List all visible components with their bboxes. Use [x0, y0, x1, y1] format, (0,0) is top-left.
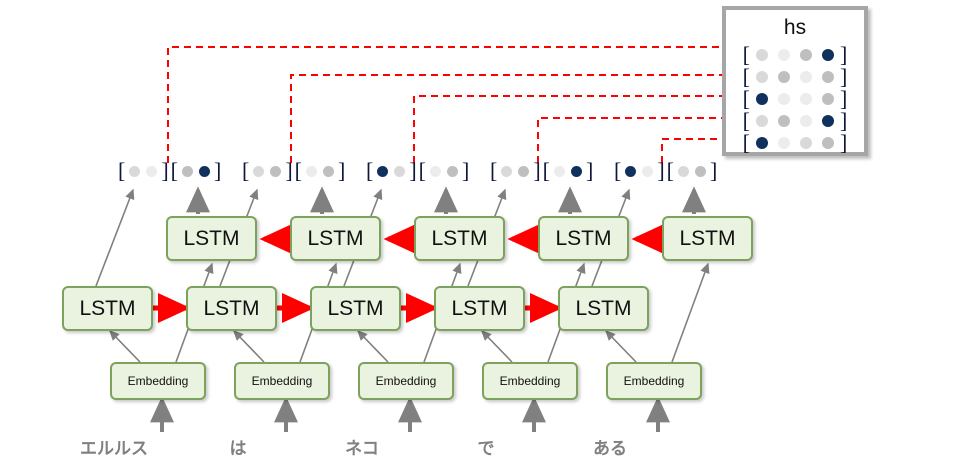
lstm-backward-5[interactable]: LSTM	[662, 216, 753, 261]
backward-output-vector-5: []	[666, 162, 719, 180]
output-vector-4: [][]	[489, 162, 594, 180]
bracket-close: ]	[840, 134, 847, 152]
vector-dot	[199, 166, 210, 177]
hs-panel-title: hs	[726, 16, 864, 40]
vector-dot	[778, 137, 790, 149]
vector-dot	[822, 93, 834, 105]
vector-dot	[756, 137, 768, 149]
hs-row: []	[726, 110, 864, 132]
bracket-open: [	[490, 162, 497, 180]
vector-dot	[822, 49, 834, 61]
output-vector-3: [][]	[365, 162, 470, 180]
backward-output-vector-1: []	[170, 162, 223, 180]
vector-dot	[800, 49, 812, 61]
vector-dot	[430, 166, 441, 177]
bilstm-diagram: hs [][][][][] [][]LSTMLSTMEmbeddingエルルス[…	[0, 0, 969, 474]
vector-dot	[822, 115, 834, 127]
vector-dot	[377, 166, 388, 177]
hs-row: []	[726, 44, 864, 66]
vector-dot	[306, 166, 317, 177]
forward-output-vector-5: []	[613, 162, 666, 180]
bracket-close: ]	[840, 112, 847, 130]
forward-output-vector-4: []	[489, 162, 542, 180]
bracket-open: [	[366, 162, 373, 180]
vector-dot	[800, 137, 812, 149]
bracket-close: ]	[338, 162, 345, 180]
bracket-open: [	[743, 134, 750, 152]
bracket-open: [	[295, 162, 302, 180]
lstm-backward-4[interactable]: LSTM	[538, 216, 629, 261]
bracket-close: ]	[840, 90, 847, 108]
backward-output-vector-2: []	[294, 162, 347, 180]
lstm-backward-2[interactable]: LSTM	[290, 216, 381, 261]
input-word-5: ある	[554, 434, 666, 459]
lstm-forward-3[interactable]: LSTM	[310, 286, 401, 331]
bracket-close: ]	[161, 162, 168, 180]
hs-vector-2: []	[742, 68, 849, 86]
vector-dot	[800, 71, 812, 83]
vector-dot	[518, 166, 529, 177]
vector-dot	[800, 115, 812, 127]
bracket-open: [	[743, 90, 750, 108]
vector-dot	[642, 166, 653, 177]
input-word-2: は	[182, 434, 294, 459]
backward-output-vector-4: []	[542, 162, 595, 180]
input-word-3: ネコ	[306, 434, 418, 459]
hs-vector-4: []	[742, 112, 849, 130]
forward-output-vector-2: []	[241, 162, 294, 180]
bracket-close: ]	[285, 162, 292, 180]
bracket-open: [	[419, 162, 426, 180]
vector-dot	[778, 93, 790, 105]
hs-row: []	[726, 88, 864, 110]
hs-matrix: [][][][][]	[726, 44, 864, 154]
output-vector-2: [][]	[241, 162, 346, 180]
vector-dot	[756, 71, 768, 83]
bracket-open: [	[743, 46, 750, 64]
forward-output-vector-1: []	[117, 162, 170, 180]
lstm-forward-4[interactable]: LSTM	[434, 286, 525, 331]
vector-dot	[253, 166, 264, 177]
bracket-close: ]	[657, 162, 664, 180]
hs-vector-5: []	[742, 134, 849, 152]
input-word-1: エルルス	[58, 434, 170, 459]
vector-dot	[778, 115, 790, 127]
bracket-close: ]	[533, 162, 540, 180]
hs-row: []	[726, 132, 864, 154]
embedding-3[interactable]: Embedding	[358, 362, 454, 400]
bracket-open: [	[667, 162, 674, 180]
bracket-close: ]	[710, 162, 717, 180]
backward-output-vector-3: []	[418, 162, 471, 180]
bracket-open: [	[743, 112, 750, 130]
bracket-close: ]	[586, 162, 593, 180]
bracket-close: ]	[214, 162, 221, 180]
lstm-forward-5[interactable]: LSTM	[558, 286, 649, 331]
bracket-open: [	[743, 68, 750, 86]
bracket-close: ]	[840, 46, 847, 64]
lstm-forward-1[interactable]: LSTM	[62, 286, 153, 331]
input-word-4: で	[430, 434, 542, 459]
bracket-close: ]	[462, 162, 469, 180]
embedding-1[interactable]: Embedding	[110, 362, 206, 400]
hs-vector-3: []	[742, 90, 849, 108]
vector-dot	[270, 166, 281, 177]
embedding-5[interactable]: Embedding	[606, 362, 702, 400]
output-vector-5: [][]	[613, 162, 718, 180]
vector-dot	[182, 166, 193, 177]
bracket-close: ]	[840, 68, 847, 86]
output-vector-1: [][]	[117, 162, 222, 180]
bracket-open: [	[543, 162, 550, 180]
lstm-forward-2[interactable]: LSTM	[186, 286, 277, 331]
vector-dot	[129, 166, 140, 177]
embedding-4[interactable]: Embedding	[482, 362, 578, 400]
vector-dot	[501, 166, 512, 177]
vector-dot	[822, 71, 834, 83]
bracket-close: ]	[409, 162, 416, 180]
lstm-backward-3[interactable]: LSTM	[414, 216, 505, 261]
vector-dot	[625, 166, 636, 177]
vector-dot	[756, 49, 768, 61]
vector-dot	[695, 166, 706, 177]
vector-dot	[778, 49, 790, 61]
vector-dot	[323, 166, 334, 177]
vector-dot	[394, 166, 405, 177]
vector-dot	[571, 166, 582, 177]
vector-dot	[678, 166, 689, 177]
vector-dot	[447, 166, 458, 177]
bracket-open: [	[171, 162, 178, 180]
vector-dot	[756, 115, 768, 127]
vector-dot	[778, 71, 790, 83]
embedding-2[interactable]: Embedding	[234, 362, 330, 400]
bracket-open: [	[118, 162, 125, 180]
forward-output-vector-3: []	[365, 162, 418, 180]
vector-dot	[554, 166, 565, 177]
vector-dot	[146, 166, 157, 177]
vector-dot	[800, 93, 812, 105]
bracket-open: [	[242, 162, 249, 180]
hs-row: []	[726, 66, 864, 88]
vector-dot	[822, 137, 834, 149]
bracket-open: [	[614, 162, 621, 180]
hs-vector-1: []	[742, 46, 849, 64]
lstm-backward-1[interactable]: LSTM	[166, 216, 257, 261]
vector-dot	[756, 93, 768, 105]
hs-panel: hs [][][][][]	[722, 6, 868, 156]
